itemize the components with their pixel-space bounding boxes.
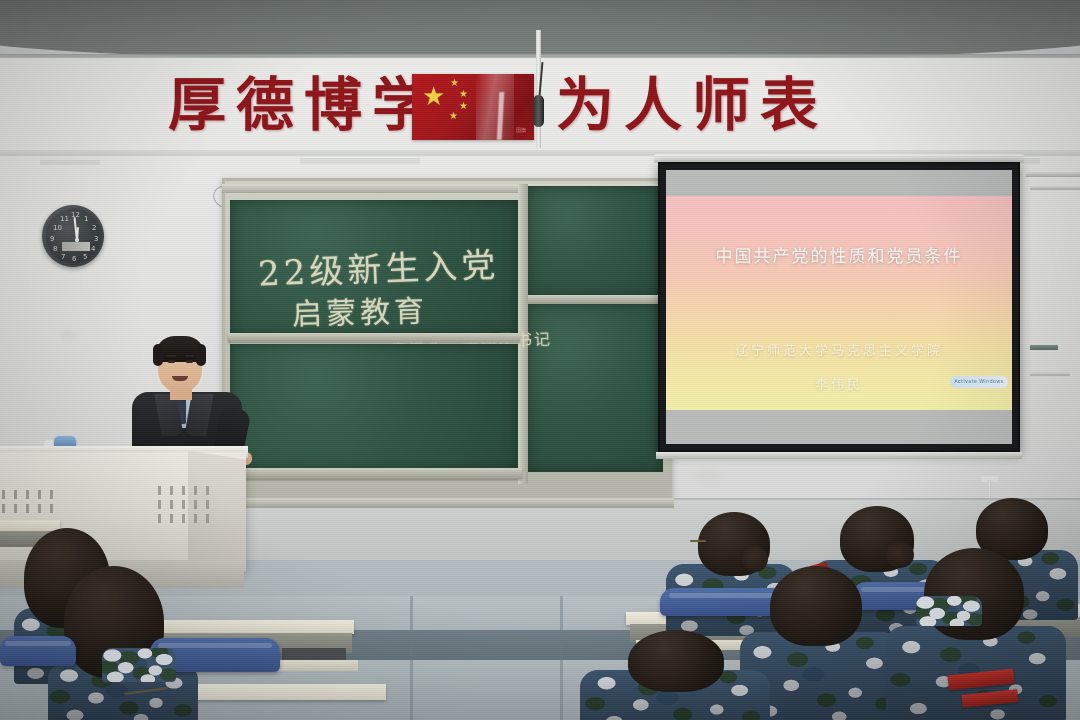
- lectern-vent-left: [2, 490, 55, 513]
- clock-numeral: 4: [91, 246, 95, 253]
- desk: [196, 684, 386, 700]
- presenter-eyebrow: [167, 355, 176, 357]
- clock-numeral: 11: [60, 216, 69, 223]
- chair-highlight: [5, 641, 72, 646]
- student-hair: [628, 630, 724, 692]
- floor-seam: [560, 596, 563, 720]
- student-hair: [924, 548, 1024, 640]
- chalkboard-panel-lower: [230, 344, 518, 470]
- chalk-line-2: 启蒙教育: [291, 286, 428, 333]
- rod-clip: [533, 95, 544, 127]
- wall-rail: [1030, 372, 1070, 376]
- camouflage-pattern: [102, 648, 176, 682]
- activate-windows-watermark: Activate Windows: [950, 376, 1008, 388]
- clock-numeral: 5: [83, 254, 87, 261]
- floor-seam: [410, 596, 413, 720]
- clock-numeral: 1: [84, 216, 88, 223]
- lectern-vent-right: [158, 486, 211, 523]
- presenter-hair-side: [153, 344, 163, 366]
- flag-glare: [476, 74, 514, 140]
- clock-numeral: 10: [53, 225, 62, 232]
- camouflage-cap: [916, 596, 982, 626]
- presenter-eye: [168, 360, 175, 363]
- student-hair: [770, 566, 862, 646]
- wall-plate: [300, 158, 420, 164]
- clock-numeral: 9: [50, 236, 54, 243]
- clock-numeral: 8: [53, 246, 57, 253]
- presenter-eyebrow: [185, 355, 194, 357]
- flag-small-star: ★: [449, 112, 458, 122]
- china-flag-icon: ★ ★ ★ ★ ★ 国旗: [412, 74, 534, 140]
- chalkboard-ledge: [525, 295, 665, 304]
- screen-letterbox-top: [666, 170, 1012, 196]
- wall-plate: [40, 160, 100, 165]
- chalk-tray: [222, 498, 674, 508]
- chalkboard: 22级新生入党 启蒙教育 主讲人：李伟民书记: [222, 178, 672, 508]
- chalkboard-panel-right-top: [527, 186, 663, 298]
- student: [580, 630, 770, 720]
- clock-numeral: 2: [92, 225, 96, 232]
- wall-rail: [1026, 172, 1080, 177]
- clock-face: 12 1 2 3 4 5 6 7 8 9 10 11: [46, 209, 100, 263]
- slide-organization: 辽宁师范大学马克思主义学院: [666, 340, 1012, 359]
- screen-border: 中国共产党的性质和党员条件 辽宁师范大学马克思主义学院 李伟民 Activate…: [658, 162, 1020, 452]
- flag-small-star: ★: [459, 102, 468, 112]
- clock-numeral: 3: [94, 236, 98, 243]
- clock-numeral: 6: [72, 256, 76, 263]
- activate-windows-text: Activate Windows: [950, 376, 1008, 388]
- wall-smudge: [60, 330, 76, 340]
- wall-bracket: [1030, 345, 1058, 350]
- screen-surface: 中国共产党的性质和党员条件 辽宁师范大学马克思主义学院 李伟民 Activate…: [666, 170, 1012, 444]
- flag-corner-mark: 国旗: [516, 127, 526, 134]
- clock-brand: [62, 242, 90, 251]
- camouflage-pattern: [916, 596, 982, 626]
- banner-text-left: 厚德博学: [168, 70, 440, 140]
- screen-letterbox-bottom: [666, 410, 1012, 444]
- clock-center-pin: [75, 238, 79, 242]
- slide-canvas: 中国共产党的性质和党员条件 辽宁师范大学马克思主义学院 李伟民 Activate…: [666, 196, 1012, 410]
- chalkboard-panel-main: 22级新生入党 启蒙教育 主讲人：李伟民书记: [230, 200, 518, 336]
- screen-weight-bar: [656, 452, 1022, 459]
- slide-title: 中国共产党的性质和党员条件: [666, 242, 1012, 267]
- presenter-mouth: [172, 376, 188, 381]
- chair-back: [0, 636, 76, 666]
- lecture-hall-photo: 厚德博学 为人师表 ★ ★ ★ ★ ★ 国旗 12 1 2 3 4 5 6 7 …: [0, 0, 1080, 720]
- flag-small-star: ★: [450, 79, 459, 89]
- projection-screen[interactable]: 中国共产党的性质和党员条件 辽宁师范大学马克思主义学院 李伟民 Activate…: [658, 162, 1020, 452]
- chalkboard-bottom-ledge: [226, 468, 522, 479]
- wall-rail: [1030, 186, 1080, 190]
- presenter-hair-side: [196, 344, 206, 366]
- presenter-eye: [186, 360, 193, 363]
- chalkboard-mid-ledge: [228, 333, 520, 342]
- glasses-icon: [690, 540, 706, 542]
- wall-smudge: [694, 470, 722, 482]
- wall-clock: 12 1 2 3 4 5 6 7 8 9 10 11: [42, 205, 104, 267]
- banner-text-right: 为人师表: [556, 70, 828, 140]
- clock-numeral: 7: [61, 254, 65, 261]
- flag-small-star: ★: [459, 90, 468, 100]
- flag-big-star: ★: [422, 84, 445, 110]
- camouflage-cap: [102, 648, 176, 682]
